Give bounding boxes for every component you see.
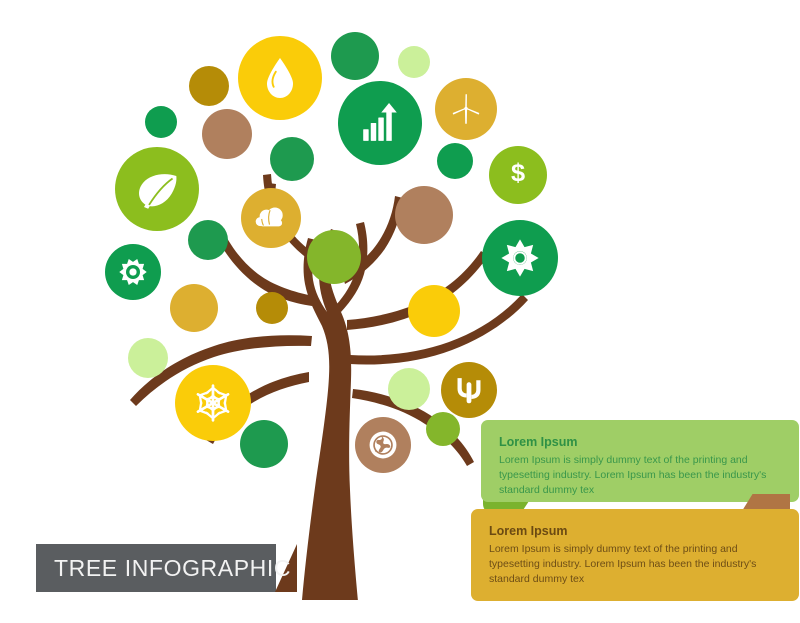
sun-icon-node[interactable] bbox=[482, 220, 558, 296]
panel-green[interactable]: Lorem Ipsum Lorem Ipsum is simply dummy … bbox=[481, 420, 799, 502]
leaf-circle-tan-right bbox=[395, 186, 453, 244]
leaf-circle-pale-right bbox=[388, 368, 430, 410]
globe-icon-node[interactable] bbox=[355, 417, 411, 473]
sun-icon bbox=[501, 239, 538, 276]
leaf-circle-yellow-right bbox=[408, 285, 460, 337]
cloud-icon-node[interactable] bbox=[241, 188, 301, 248]
bar-chart-growth-icon-node[interactable] bbox=[338, 81, 422, 165]
gear-icon-node[interactable] bbox=[105, 244, 161, 300]
leaf-circle-tan-upper bbox=[202, 109, 252, 159]
leaf-circle-mid-green bbox=[307, 230, 361, 284]
panel-yellow-body: Lorem Ipsum is simply dummy text of the … bbox=[489, 542, 757, 587]
panel-yellow[interactable]: Lorem Ipsum Lorem Ipsum is simply dummy … bbox=[471, 509, 799, 601]
infographic-canvas: $ Lorem Ipsum Lorem Ipsum is simply dumm… bbox=[0, 0, 800, 623]
snowflake-icon-node[interactable] bbox=[175, 365, 251, 441]
leaf-circle-emerald-sm bbox=[145, 106, 177, 138]
wind-turbine-icon-node[interactable] bbox=[435, 78, 497, 140]
title-banner: TREE INFOGRAPHIC bbox=[36, 544, 276, 592]
leaf-circle-emerald-mid bbox=[270, 137, 314, 181]
leaf-icon-node[interactable] bbox=[115, 147, 199, 231]
page-title: TREE INFOGRAPHIC bbox=[54, 544, 291, 592]
tree-trunk bbox=[302, 229, 358, 600]
dollar-sign-icon: $ bbox=[511, 159, 525, 187]
leaf-circle-darkgold-2 bbox=[256, 292, 288, 324]
panel-green-title: Lorem Ipsum bbox=[499, 434, 781, 451]
leaf-circle-pale-top bbox=[398, 46, 430, 78]
dollar-sign-icon-node[interactable]: $ bbox=[489, 146, 547, 204]
cactus-icon-node[interactable] bbox=[441, 362, 497, 418]
leaf-circle-darkgold bbox=[189, 66, 229, 106]
leaf-circle-olive-sm bbox=[426, 412, 460, 446]
leaf-circle-emerald-r bbox=[437, 143, 473, 179]
globe-icon bbox=[370, 432, 397, 459]
panel-yellow-title: Lorem Ipsum bbox=[489, 523, 781, 540]
svg-text:$: $ bbox=[511, 159, 525, 187]
leaf-circle-emerald-l bbox=[188, 220, 228, 260]
water-drop-icon-node[interactable] bbox=[238, 36, 322, 120]
leaf-circle-emerald-bot bbox=[240, 420, 288, 468]
leaf-circle-pale-left bbox=[128, 338, 168, 378]
leaf-circle-green-top bbox=[331, 32, 379, 80]
leaf-circle-gold-left bbox=[170, 284, 218, 332]
panel-green-body: Lorem Ipsum is simply dummy text of the … bbox=[499, 453, 767, 498]
